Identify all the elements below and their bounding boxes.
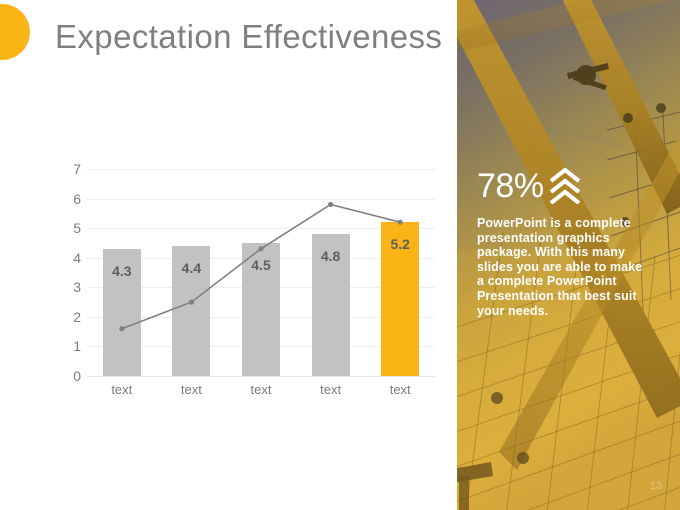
line-marker	[119, 326, 124, 331]
percent-value: 78%	[477, 168, 544, 204]
y-axis-tick: 6	[55, 192, 81, 206]
x-axis-tick: text	[92, 382, 152, 397]
y-axis-tick: 3	[55, 280, 81, 294]
title-accent-shape	[0, 4, 30, 60]
line-marker	[258, 246, 263, 251]
page-title: Expectation Effectiveness	[55, 14, 455, 60]
slide-canvas: Expectation Effectiveness 01234567 4.34.…	[0, 0, 680, 510]
page-number: 13	[650, 480, 662, 492]
y-axis-tick: 5	[55, 221, 81, 235]
bar-line-chart: 01234567 4.34.44.54.85.2 texttexttexttex…	[55, 160, 435, 415]
line-marker	[328, 202, 333, 207]
panel-content: 78% PowerPoint is a complete presentatio…	[477, 168, 667, 318]
y-axis-tick: 1	[55, 339, 81, 353]
y-axis-tick: 2	[55, 310, 81, 324]
gridline	[87, 376, 435, 377]
percent-row: 78%	[477, 168, 667, 206]
y-axis-tick: 7	[55, 162, 81, 176]
x-axis-tick: text	[161, 382, 221, 397]
chevrons-up-icon	[548, 168, 582, 204]
chart-plot-area: 4.34.44.54.85.2	[87, 169, 435, 376]
image-panel: 78% PowerPoint is a complete presentatio…	[457, 0, 680, 510]
line-marker	[189, 300, 194, 305]
panel-body-text: PowerPoint is a complete presentation gr…	[477, 216, 647, 318]
chart-line-series	[87, 169, 435, 376]
x-axis-tick: text	[370, 382, 430, 397]
y-axis-tick: 0	[55, 369, 81, 383]
x-axis-tick: text	[231, 382, 291, 397]
line-marker	[398, 220, 403, 225]
y-axis-tick: 4	[55, 251, 81, 265]
x-axis-tick: text	[301, 382, 361, 397]
y-axis: 01234567	[55, 160, 81, 385]
line-path	[122, 205, 400, 329]
